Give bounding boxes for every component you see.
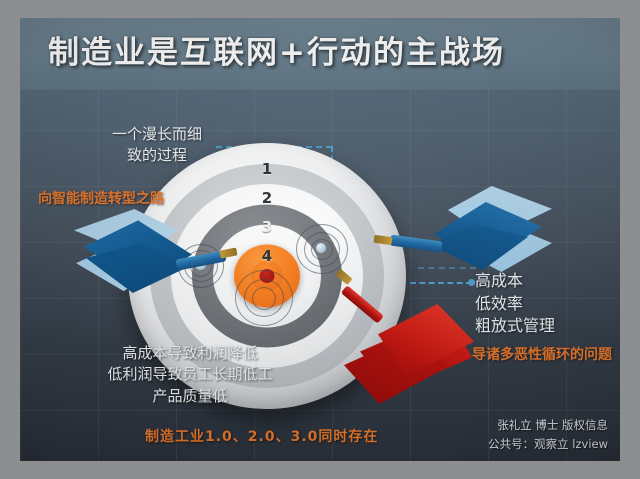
ring-label-4: 4: [262, 247, 272, 265]
credits-line1: 张礼立 博士 版权信息: [488, 416, 608, 434]
slide-canvas: 制造业是互联网+行动的主战场 1 2 3 4: [20, 18, 620, 461]
note-cost-line3: 产品质量低: [70, 386, 310, 407]
page-title: 制造业是互联网+行动的主战场: [48, 27, 505, 72]
impact-ripple-center-3: [252, 287, 276, 310]
note-right-problems: 高成本 低效率 粗放式管理: [475, 270, 555, 338]
note-cost-line2: 低利润导致员工长期低工: [70, 364, 310, 385]
credits: 张礼立 博士 版权信息 公共号：观察立 lzview: [488, 416, 608, 453]
impact-dot-right: [316, 243, 326, 253]
note-right-line1: 高成本: [475, 270, 555, 293]
note-bottom-orange: 制造工业1.0、2.0、3.0同时存在: [145, 428, 378, 448]
note-right-line3: 粗放式管理: [475, 315, 555, 338]
note-cost-line1: 高成本导致利润降低: [70, 343, 310, 364]
note-process-line1: 一个漫长而细: [72, 124, 242, 145]
note-process-line2: 致的过程: [72, 145, 242, 166]
note-path: 向智能制造转型之路: [38, 190, 164, 210]
ring-label-2: 2: [262, 189, 272, 207]
ring-label-3: 3: [262, 218, 272, 236]
dart-shaft: [341, 285, 384, 324]
note-cost-chain: 高成本导致利润降低 低利润导致员工长期低工 产品质量低: [70, 343, 310, 407]
credits-line2: 公共号：观察立 lzview: [488, 435, 608, 453]
slide-frame: 制造业是互联网+行动的主战场 1 2 3 4: [0, 0, 640, 479]
dart-blue-right: [418, 184, 558, 280]
ring-label-1: 1: [262, 160, 272, 178]
note-right-line2: 低效率: [475, 293, 555, 316]
dart-blue-left: [70, 203, 210, 295]
note-right-orange: 导诸多恶性循环的问题: [472, 346, 612, 366]
title-band: 制造业是互联网+行动的主战场: [20, 18, 620, 90]
note-process: 一个漫长而细 致的过程: [72, 124, 242, 167]
dart-red-center: [338, 280, 498, 408]
